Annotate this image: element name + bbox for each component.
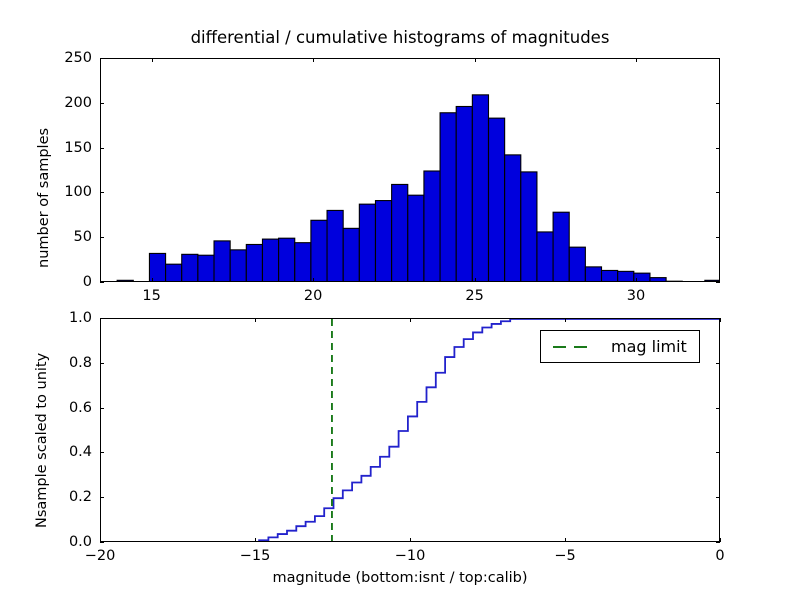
cumulative-y-tickmark-4 — [100, 363, 104, 364]
cumulative-y-tickmark-0 — [100, 542, 104, 543]
histogram-bar — [705, 280, 719, 281]
histogram-bar — [505, 155, 521, 281]
cumulative-y-tickmark-right-1 — [716, 497, 720, 498]
differential-y-tickmark-right-5 — [716, 58, 720, 59]
histogram-bar — [456, 106, 472, 281]
cumulative-x-axis-title: magnitude (bottom:isnt / top:calib) — [0, 570, 800, 586]
cumulative-x-tickmark-4 — [720, 538, 721, 542]
differential-y-ticklabel-0: 0 — [34, 274, 92, 290]
histogram-bar — [327, 210, 343, 281]
differential-plot-surface — [101, 59, 719, 281]
differential-y-tickmark-right-0 — [716, 282, 720, 283]
cumulative-y-tickmark-1 — [100, 497, 104, 498]
cumulative-x-tickmark-3 — [565, 538, 566, 542]
cumulative-y-tickmark-right-2 — [716, 452, 720, 453]
cumulative-y-tickmark-right-3 — [716, 408, 720, 409]
cumulative-y-tickmark-2 — [100, 452, 104, 453]
differential-x-tickmark-2 — [475, 278, 476, 282]
differential-y-tickmark-4 — [100, 103, 104, 104]
cumulative-y-ticklabel-0: 0.0 — [34, 534, 92, 550]
differential-y-axis-title: number of samples — [36, 128, 52, 268]
differential-x-tickmark-top-2 — [475, 58, 476, 62]
histogram-bar — [246, 244, 262, 281]
differential-y-tickmark-0 — [100, 282, 104, 283]
differential-y-tickmark-1 — [100, 237, 104, 238]
differential-y-tickmark-right-4 — [716, 103, 720, 104]
cumulative-x-tickmark-top-0 — [100, 318, 101, 322]
differential-x-tickmark-top-3 — [636, 58, 637, 62]
legend-entry-label: mag limit — [611, 337, 687, 356]
histogram-bar — [198, 255, 214, 281]
cumulative-x-tickmark-top-4 — [720, 318, 721, 322]
histogram-bar — [359, 204, 375, 281]
differential-y-tickmark-right-1 — [716, 237, 720, 238]
cumulative-y-tickmark-right-4 — [716, 363, 720, 364]
cumulative-y-axis-title: Nsample scaled to unity — [34, 353, 50, 528]
histogram-bar — [521, 172, 537, 281]
differential-x-tickmark-top-1 — [313, 58, 314, 62]
cumulative-x-tickmark-2 — [410, 538, 411, 542]
histogram-bar — [230, 250, 246, 281]
differential-y-tickmark-right-3 — [716, 148, 720, 149]
histogram-bar — [343, 228, 359, 281]
cumulative-y-tickmark-3 — [100, 408, 104, 409]
histogram-bar — [424, 171, 440, 281]
histogram-bar — [295, 243, 311, 281]
histogram-bar — [214, 241, 230, 281]
cumulative-x-ticklabel-1: −15 — [240, 548, 271, 564]
differential-y-tickmark-2 — [100, 192, 104, 193]
cumulative-x-tickmark-top-3 — [565, 318, 566, 322]
histogram-bar — [279, 238, 295, 281]
differential-histogram-axes — [100, 58, 720, 282]
differential-x-tickmark-top-0 — [152, 58, 153, 62]
differential-y-tickmark-right-2 — [716, 192, 720, 193]
cumulative-x-ticklabel-2: −10 — [395, 548, 426, 564]
histogram-bar — [602, 270, 618, 281]
histogram-bar — [166, 264, 182, 281]
differential-x-ticklabel-1: 20 — [304, 288, 322, 304]
cumulative-x-tickmark-top-1 — [255, 318, 256, 322]
histogram-bar — [553, 212, 569, 281]
histogram-bar — [440, 113, 456, 281]
histogram-bar — [650, 278, 666, 281]
histogram-bar — [311, 220, 327, 281]
mag-limit-line-icon — [553, 346, 595, 348]
histogram-bar — [182, 254, 198, 281]
histogram-bar — [408, 195, 424, 281]
differential-x-ticklabel-0: 15 — [142, 288, 160, 304]
histogram-bar — [375, 201, 391, 281]
cumulative-x-tickmark-1 — [255, 538, 256, 542]
cumulative-x-ticklabel-3: −5 — [554, 548, 575, 564]
cumulative-x-ticklabel-4: 0 — [715, 548, 724, 564]
histogram-bar — [585, 267, 601, 281]
legend[interactable]: mag limit — [540, 330, 700, 363]
histogram-bar — [489, 118, 505, 281]
differential-y-ticklabel-4: 200 — [34, 95, 92, 111]
differential-x-tickmark-1 — [313, 278, 314, 282]
differential-x-ticklabel-2: 25 — [465, 288, 483, 304]
histogram-bar — [537, 232, 553, 281]
cumulative-y-ticklabel-5: 1.0 — [34, 310, 92, 326]
differential-y-tickmark-3 — [100, 148, 104, 149]
histogram-bar — [569, 247, 585, 281]
differential-x-tickmark-3 — [636, 278, 637, 282]
histogram-bars — [101, 59, 719, 281]
histogram-bar — [392, 184, 408, 281]
histogram-bar — [472, 95, 488, 281]
page-title: differential / cumulative histograms of … — [0, 28, 800, 47]
histogram-bar — [117, 280, 133, 281]
cumulative-x-tickmark-top-2 — [410, 318, 411, 322]
differential-x-tickmark-0 — [152, 278, 153, 282]
histogram-bar — [149, 253, 165, 281]
cumulative-y-tickmark-right-0 — [716, 542, 720, 543]
differential-x-ticklabel-3: 30 — [627, 288, 645, 304]
figure-canvas: differential / cumulative histograms of … — [0, 0, 800, 600]
cumulative-x-tickmark-0 — [100, 538, 101, 542]
cumulative-x-ticklabel-0: −20 — [85, 548, 116, 564]
histogram-bar — [262, 239, 278, 281]
differential-y-tickmark-5 — [100, 58, 104, 59]
differential-y-ticklabel-5: 250 — [34, 50, 92, 66]
histogram-bar — [618, 271, 634, 281]
